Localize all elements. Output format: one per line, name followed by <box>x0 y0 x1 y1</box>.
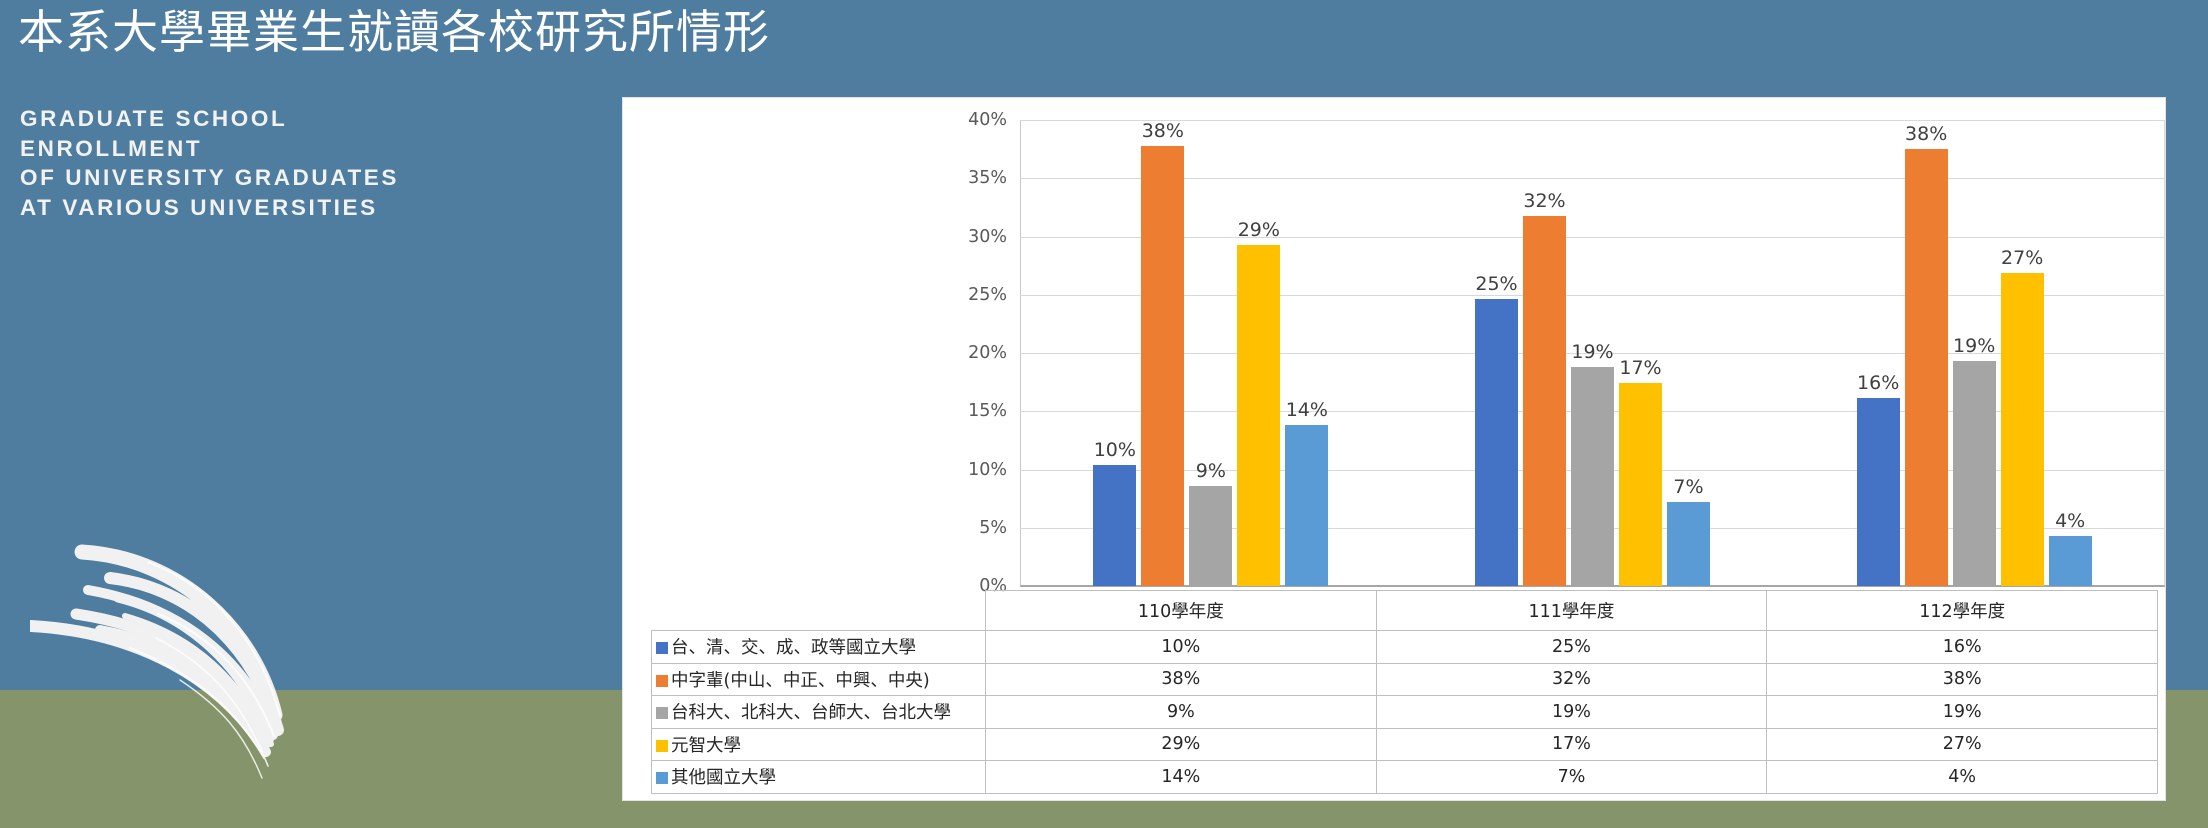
bar-value-label: 10% <box>1094 439 1136 461</box>
subtitle-line-4: AT VARIOUS UNIVERSITIES <box>20 193 399 223</box>
bar[interactable]: 17% <box>1619 383 1662 586</box>
y-axis-tick: 5% <box>979 518 1007 538</box>
slide-canvas: 本系大學畢業生就讀各校研究所情形 GRADUATE SCHOOL ENROLLM… <box>0 0 2208 828</box>
bar-column[interactable]: 38% <box>1905 120 1948 586</box>
table-category-header: 111學年度 <box>1376 591 1767 631</box>
legend-series-name: 中字輩(中山、中正、中興、中央) <box>652 663 986 696</box>
bar[interactable]: 19% <box>1953 361 1996 586</box>
bar-value-label: 4% <box>2055 510 2085 532</box>
bar-value-label: 7% <box>1673 476 1703 498</box>
table-corner-cell <box>652 591 986 631</box>
table-row: 中字輩(中山、中正、中興、中央)38%32%38% <box>652 663 2158 696</box>
bar-group: 25%32%19%17%7% <box>1402 120 1784 586</box>
legend-series-name: 元智大學 <box>652 728 986 761</box>
bar[interactable]: 29% <box>1237 245 1280 586</box>
table-value-cell: 14% <box>986 761 1377 794</box>
subtitle-line-3: OF UNIVERSITY GRADUATES <box>20 163 399 193</box>
bar-value-label: 14% <box>1286 399 1328 421</box>
legend-swatch-icon <box>656 740 668 752</box>
bar-value-label: 19% <box>1571 341 1613 363</box>
bar-column[interactable]: 4% <box>2049 120 2092 586</box>
data-table: 110學年度111學年度112學年度台、清、交、成、政等國立大學10%25%16… <box>651 590 2158 794</box>
page-subtitle: GRADUATE SCHOOL ENROLLMENT OF UNIVERSITY… <box>20 104 399 222</box>
table-category-header: 112學年度 <box>1767 591 2158 631</box>
table-header-row: 110學年度111學年度112學年度 <box>652 591 2158 631</box>
table-row: 元智大學29%17%27% <box>652 728 2158 761</box>
bar-group: 16%38%19%27%4% <box>1783 120 2165 586</box>
subtitle-line-1: GRADUATE SCHOOL <box>20 104 399 134</box>
bar[interactable]: 4% <box>2049 536 2092 586</box>
bar[interactable]: 16% <box>1857 398 1900 586</box>
bar[interactable]: 14% <box>1285 425 1328 586</box>
y-axis-tick: 20% <box>968 343 1007 363</box>
table-row: 其他國立大學14%7%4% <box>652 761 2158 794</box>
bar[interactable]: 27% <box>2001 273 2044 586</box>
bar-value-label: 27% <box>2001 247 2043 269</box>
bar-column[interactable]: 10% <box>1093 120 1136 586</box>
legend-series-name: 台科大、北科大、台師大、台北大學 <box>652 696 986 729</box>
bar-value-label: 32% <box>1523 190 1565 212</box>
bar-column[interactable]: 38% <box>1141 120 1184 586</box>
legend-swatch-icon <box>656 707 668 719</box>
legend-swatch-icon <box>656 642 668 654</box>
bar[interactable]: 10% <box>1093 465 1136 586</box>
table-value-cell: 4% <box>1767 761 2158 794</box>
bar-value-label: 9% <box>1196 460 1226 482</box>
y-axis: 0%5%10%15%20%25%30%35%40% <box>953 120 1015 586</box>
table-row: 台、清、交、成、政等國立大學10%25%16% <box>652 631 2158 664</box>
chart-panel: 0%5%10%15%20%25%30%35%40% 10%38%9%29%14%… <box>623 98 2165 800</box>
bar-column[interactable]: 16% <box>1857 120 1900 586</box>
bar-column[interactable]: 29% <box>1237 120 1280 586</box>
table-value-cell: 38% <box>986 663 1377 696</box>
bar[interactable]: 38% <box>1141 146 1184 586</box>
bar-value-label: 19% <box>1953 335 1995 357</box>
bar-column[interactable]: 14% <box>1285 120 1328 586</box>
table-value-cell: 17% <box>1376 728 1767 761</box>
table-value-cell: 9% <box>986 696 1377 729</box>
y-axis-tick: 35% <box>968 168 1007 188</box>
bar-column[interactable]: 7% <box>1667 120 1710 586</box>
table-value-cell: 38% <box>1767 663 2158 696</box>
legend-series-name: 台、清、交、成、政等國立大學 <box>652 631 986 664</box>
table-value-cell: 7% <box>1376 761 1767 794</box>
bar-column[interactable]: 32% <box>1523 120 1566 586</box>
bar-column[interactable]: 19% <box>1953 120 1996 586</box>
bar-value-label: 17% <box>1619 357 1661 379</box>
bar[interactable]: 9% <box>1189 486 1232 586</box>
gridline <box>1020 586 2165 587</box>
plot-area: 10%38%9%29%14%25%32%19%17%7%16%38%19%27%… <box>1020 120 2165 586</box>
table-value-cell: 16% <box>1767 631 2158 664</box>
table-value-cell: 19% <box>1376 696 1767 729</box>
bar[interactable]: 32% <box>1523 216 1566 586</box>
legend-swatch-icon <box>656 675 668 687</box>
bar-value-label: 38% <box>1142 120 1184 142</box>
table-value-cell: 25% <box>1376 631 1767 664</box>
y-axis-tick: 10% <box>968 460 1007 480</box>
bar-column[interactable]: 27% <box>2001 120 2044 586</box>
page-title: 本系大學畢業生就讀各校研究所情形 <box>18 4 770 60</box>
table-row: 台科大、北科大、台師大、台北大學9%19%19% <box>652 696 2158 729</box>
bar-column[interactable]: 19% <box>1571 120 1614 586</box>
bar[interactable]: 38% <box>1905 149 1948 586</box>
bar-column[interactable]: 25% <box>1475 120 1518 586</box>
legend-swatch-icon <box>656 772 668 784</box>
bar-value-label: 25% <box>1475 273 1517 295</box>
bar-column[interactable]: 9% <box>1189 120 1232 586</box>
subtitle-line-2: ENROLLMENT <box>20 134 399 164</box>
bar-value-label: 16% <box>1857 372 1899 394</box>
bar[interactable]: 7% <box>1667 502 1710 586</box>
table-category-header: 110學年度 <box>986 591 1377 631</box>
bar-column[interactable]: 17% <box>1619 120 1662 586</box>
y-axis-tick: 40% <box>968 110 1007 130</box>
table-value-cell: 29% <box>986 728 1377 761</box>
table-value-cell: 19% <box>1767 696 2158 729</box>
bar-value-label: 29% <box>1238 219 1280 241</box>
bar-group: 10%38%9%29%14% <box>1020 120 1402 586</box>
y-axis-tick: 15% <box>968 401 1007 421</box>
legend-series-name: 其他國立大學 <box>652 761 986 794</box>
bar-value-label: 38% <box>1905 123 1947 145</box>
y-axis-tick: 30% <box>968 227 1007 247</box>
table-value-cell: 10% <box>986 631 1377 664</box>
bar[interactable]: 19% <box>1571 367 1614 586</box>
bar[interactable]: 25% <box>1475 299 1518 586</box>
y-axis-tick: 25% <box>968 285 1007 305</box>
table-value-cell: 27% <box>1767 728 2158 761</box>
table-value-cell: 32% <box>1376 663 1767 696</box>
